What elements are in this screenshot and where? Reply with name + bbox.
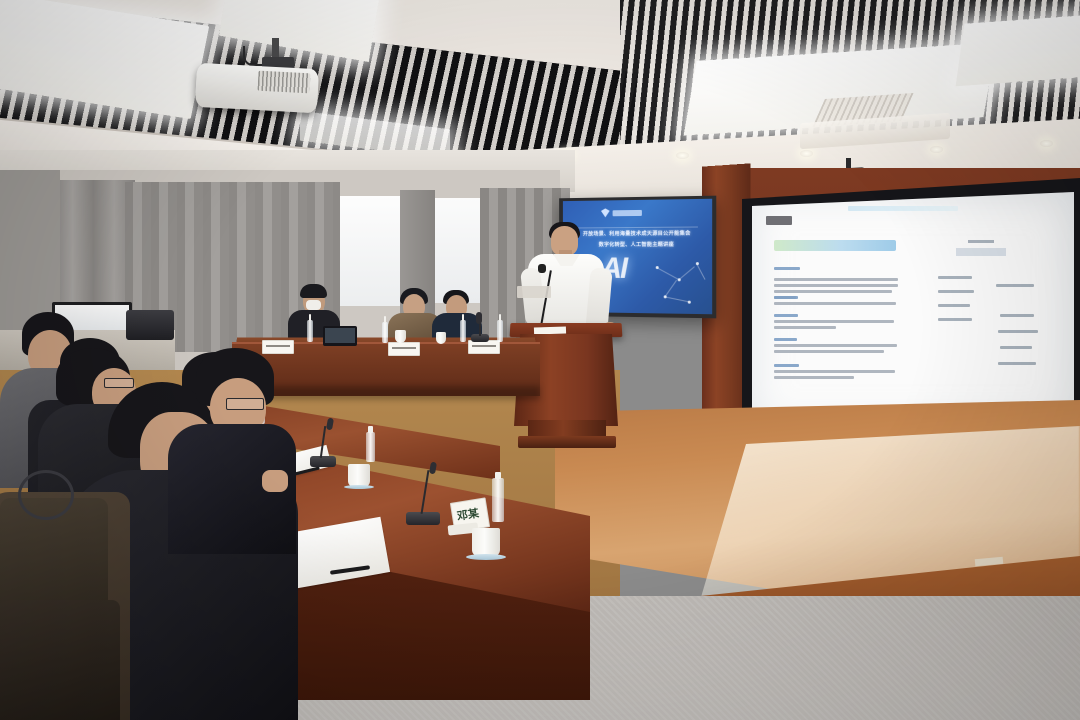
slide-right-row <box>938 318 972 321</box>
face-mask-icon <box>306 300 321 310</box>
name-placard <box>388 342 420 356</box>
network-link <box>665 296 690 302</box>
podium-microphone-head <box>538 264 546 273</box>
slide-paragraph <box>774 314 898 332</box>
teacup <box>348 464 370 487</box>
cup-saucer <box>466 554 506 560</box>
laptop-screen <box>325 328 355 343</box>
screen-logo <box>601 208 642 217</box>
table-microphone-base[interactable] <box>406 512 440 525</box>
downlight-icon <box>1040 140 1053 147</box>
screen-headline-line1: 开放场景、利用海量技术成天源目公开能集会 <box>572 230 702 240</box>
network-link <box>696 263 705 280</box>
slide-right-row <box>1000 346 1032 349</box>
av-equipment <box>126 310 174 340</box>
podium-nameplate <box>517 286 551 298</box>
slide-right-row <box>938 290 974 293</box>
podium-documents <box>534 326 566 334</box>
slide-right-column-subtitle <box>956 248 1006 256</box>
slide-paragraph <box>774 338 898 356</box>
water-bottle <box>382 322 388 343</box>
slide-right-row <box>998 362 1036 365</box>
conference-room-photo: 开放场景、利用海量技术成天源目公开能集会 数字化转型、人工智能主题讲座 AI <box>0 0 1080 720</box>
slide-right-column-title <box>968 240 994 243</box>
cup-saucer <box>344 485 374 489</box>
glasses-icon <box>104 378 134 388</box>
table-microphone-head <box>476 312 482 324</box>
network-link <box>679 266 695 280</box>
slide-right-row <box>998 330 1038 333</box>
slide-right-row <box>938 304 970 307</box>
table-microphone-base[interactable] <box>310 456 336 467</box>
slide-right-row <box>1000 314 1034 317</box>
logo-wordmark <box>613 209 642 215</box>
name-card-text: 邓某 <box>456 505 480 524</box>
glasses-icon <box>226 398 264 410</box>
downlight-icon <box>800 150 813 157</box>
network-link <box>665 280 677 297</box>
slide-header <box>848 206 958 211</box>
water-bottle <box>307 320 313 342</box>
slide-paragraph <box>774 296 898 308</box>
teacup <box>395 330 406 343</box>
podium-base <box>518 436 616 448</box>
slide-paragraph <box>774 364 898 382</box>
teacup <box>472 528 500 556</box>
downlight-icon <box>676 152 689 159</box>
ceiling-light-panel <box>956 12 1080 86</box>
projection-screen[interactable] <box>752 192 1074 428</box>
window <box>330 196 410 306</box>
coat-lower <box>0 600 120 720</box>
screen-divider <box>576 226 698 228</box>
water-bottle <box>492 478 504 522</box>
teacup <box>436 332 446 344</box>
panelist-hair <box>300 284 327 298</box>
projector-vent <box>258 71 311 94</box>
slide-highlight-bar <box>774 240 896 251</box>
screen-headline-line2: 数字化转型、人工智能主题讲座 <box>572 241 702 250</box>
head-table-shadow <box>232 386 540 400</box>
name-placard <box>262 340 294 354</box>
attendee-hand <box>262 470 288 492</box>
slide-tag-badge <box>766 216 792 225</box>
downlight-icon <box>930 146 943 153</box>
bag-strap <box>18 470 74 520</box>
slide-right-row <box>996 284 1034 287</box>
logo-mark-icon <box>601 208 610 217</box>
water-bottle <box>497 320 503 342</box>
water-bottle <box>460 320 466 342</box>
network-link <box>656 267 679 280</box>
water-bottle <box>366 432 375 462</box>
name-placard <box>468 340 500 354</box>
slide-right-row <box>938 276 972 279</box>
